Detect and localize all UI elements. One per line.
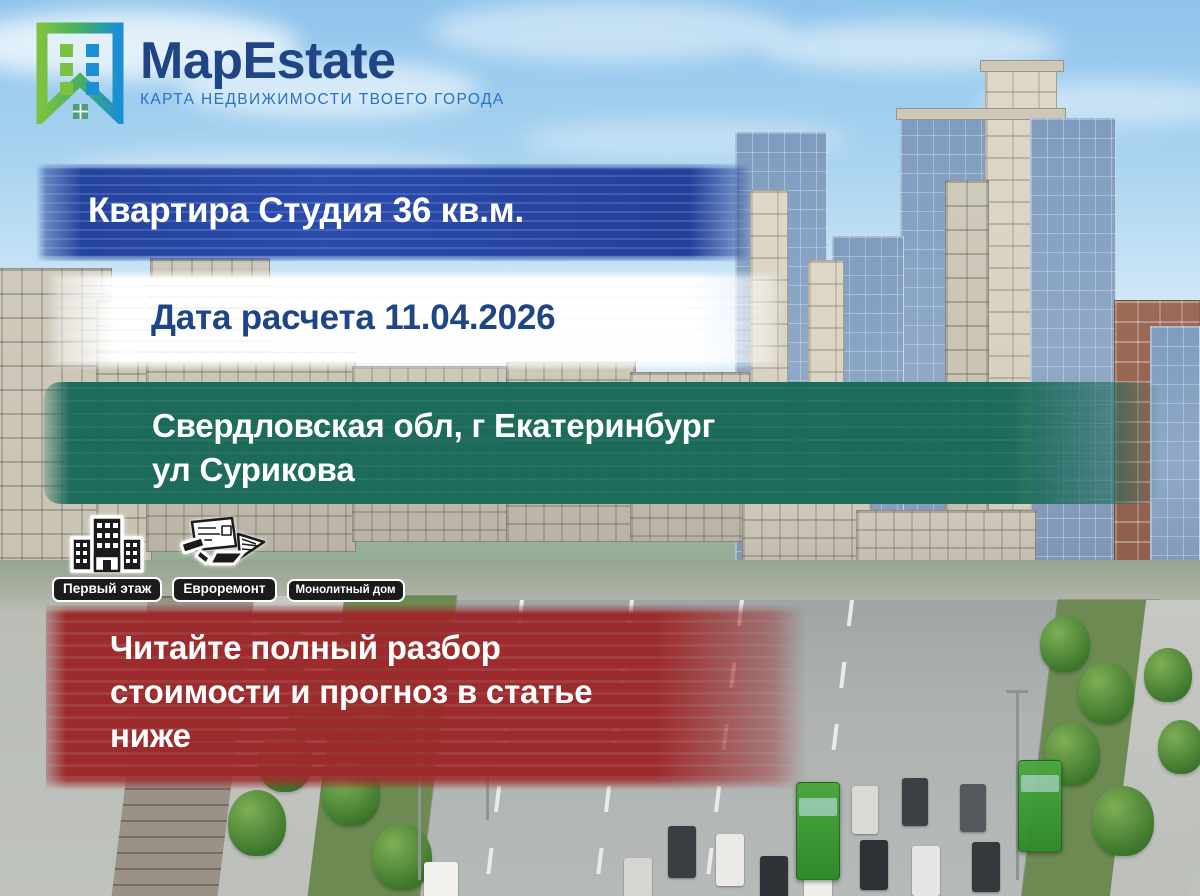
feature-badge: Первый этаж <box>52 512 162 602</box>
skyline-building <box>1030 118 1116 605</box>
tree <box>1092 786 1154 856</box>
city-bus <box>1018 760 1062 852</box>
feature-badge: Монолитный дом <box>287 581 405 602</box>
feature-badge: Евроремонт <box>172 512 276 602</box>
tree <box>1158 720 1200 774</box>
brand-logo-text: MapEstate КАРТА НЕДВИЖИМОСТИ ТВОЕГО ГОРО… <box>140 37 505 108</box>
map-estate-bookmark-building-icon <box>34 20 126 124</box>
calculation-date-banner: Дата расчета 11.04.2026 <box>46 270 786 370</box>
apartment-headline-text: Квартира Студия 36 кв.м. <box>36 163 752 231</box>
vehicle <box>668 826 696 878</box>
feature-badge-label: Первый этаж <box>52 577 162 602</box>
vehicle <box>424 862 458 896</box>
vehicle <box>912 846 940 896</box>
vehicle <box>960 784 986 832</box>
vehicle <box>716 834 744 886</box>
call-to-action-banner[interactable]: Читайте полный разбор стоимости и прогно… <box>46 604 806 790</box>
apartment-building-icon <box>67 512 147 579</box>
tree <box>1078 662 1134 724</box>
vehicle <box>860 840 888 890</box>
feature-badge-list: Первый этаж <box>52 512 405 602</box>
tree <box>1144 648 1192 702</box>
brand-tagline: КАРТА НЕДВИЖИМОСТИ ТВОЕГО ГОРОДА <box>140 92 505 108</box>
brand-title: MapEstate <box>140 37 505 86</box>
building-roof-cap <box>980 60 1064 72</box>
feature-badge-label: Евроремонт <box>172 577 276 602</box>
address-text: Свердловская обл, г Екатеринбург ул Сури… <box>44 382 1160 491</box>
tree <box>372 824 432 890</box>
vehicle <box>972 842 1000 892</box>
vehicle <box>624 858 652 896</box>
promo-poster: MapEstate КАРТА НЕДВИЖИМОСТИ ТВОЕГО ГОРО… <box>0 0 1200 896</box>
tree <box>1040 616 1090 672</box>
vehicle <box>902 778 928 826</box>
feature-badge-label: Монолитный дом <box>287 579 405 602</box>
address-banner: Свердловская обл, г Екатеринбург ул Сури… <box>44 382 1160 504</box>
brand-logo[interactable]: MapEstate КАРТА НЕДВИЖИМОСТИ ТВОЕГО ГОРО… <box>34 20 505 124</box>
city-bus <box>796 782 840 880</box>
calculation-date-text: Дата расчета 11.04.2026 <box>46 270 786 338</box>
tree <box>228 790 286 856</box>
vehicle <box>760 856 788 896</box>
vehicle <box>852 786 878 834</box>
renovation-tools-icon <box>176 512 272 579</box>
call-to-action-text: Читайте полный разбор стоимости и прогно… <box>46 604 806 759</box>
apartment-headline-banner: Квартира Студия 36 кв.м. <box>36 163 752 262</box>
